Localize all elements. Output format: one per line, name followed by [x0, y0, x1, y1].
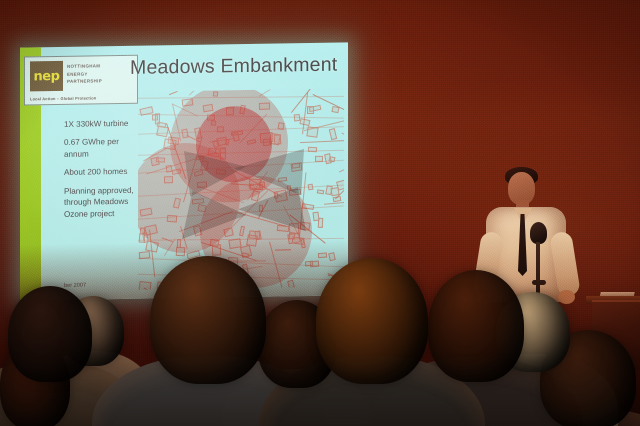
audience-head — [316, 258, 428, 384]
audience-head — [428, 270, 524, 382]
presentation-photo: nep NOTTINGHAM ENERGY PARTNERSHIP Local … — [0, 0, 640, 426]
audience-head — [150, 256, 266, 384]
audience-head — [8, 286, 92, 382]
